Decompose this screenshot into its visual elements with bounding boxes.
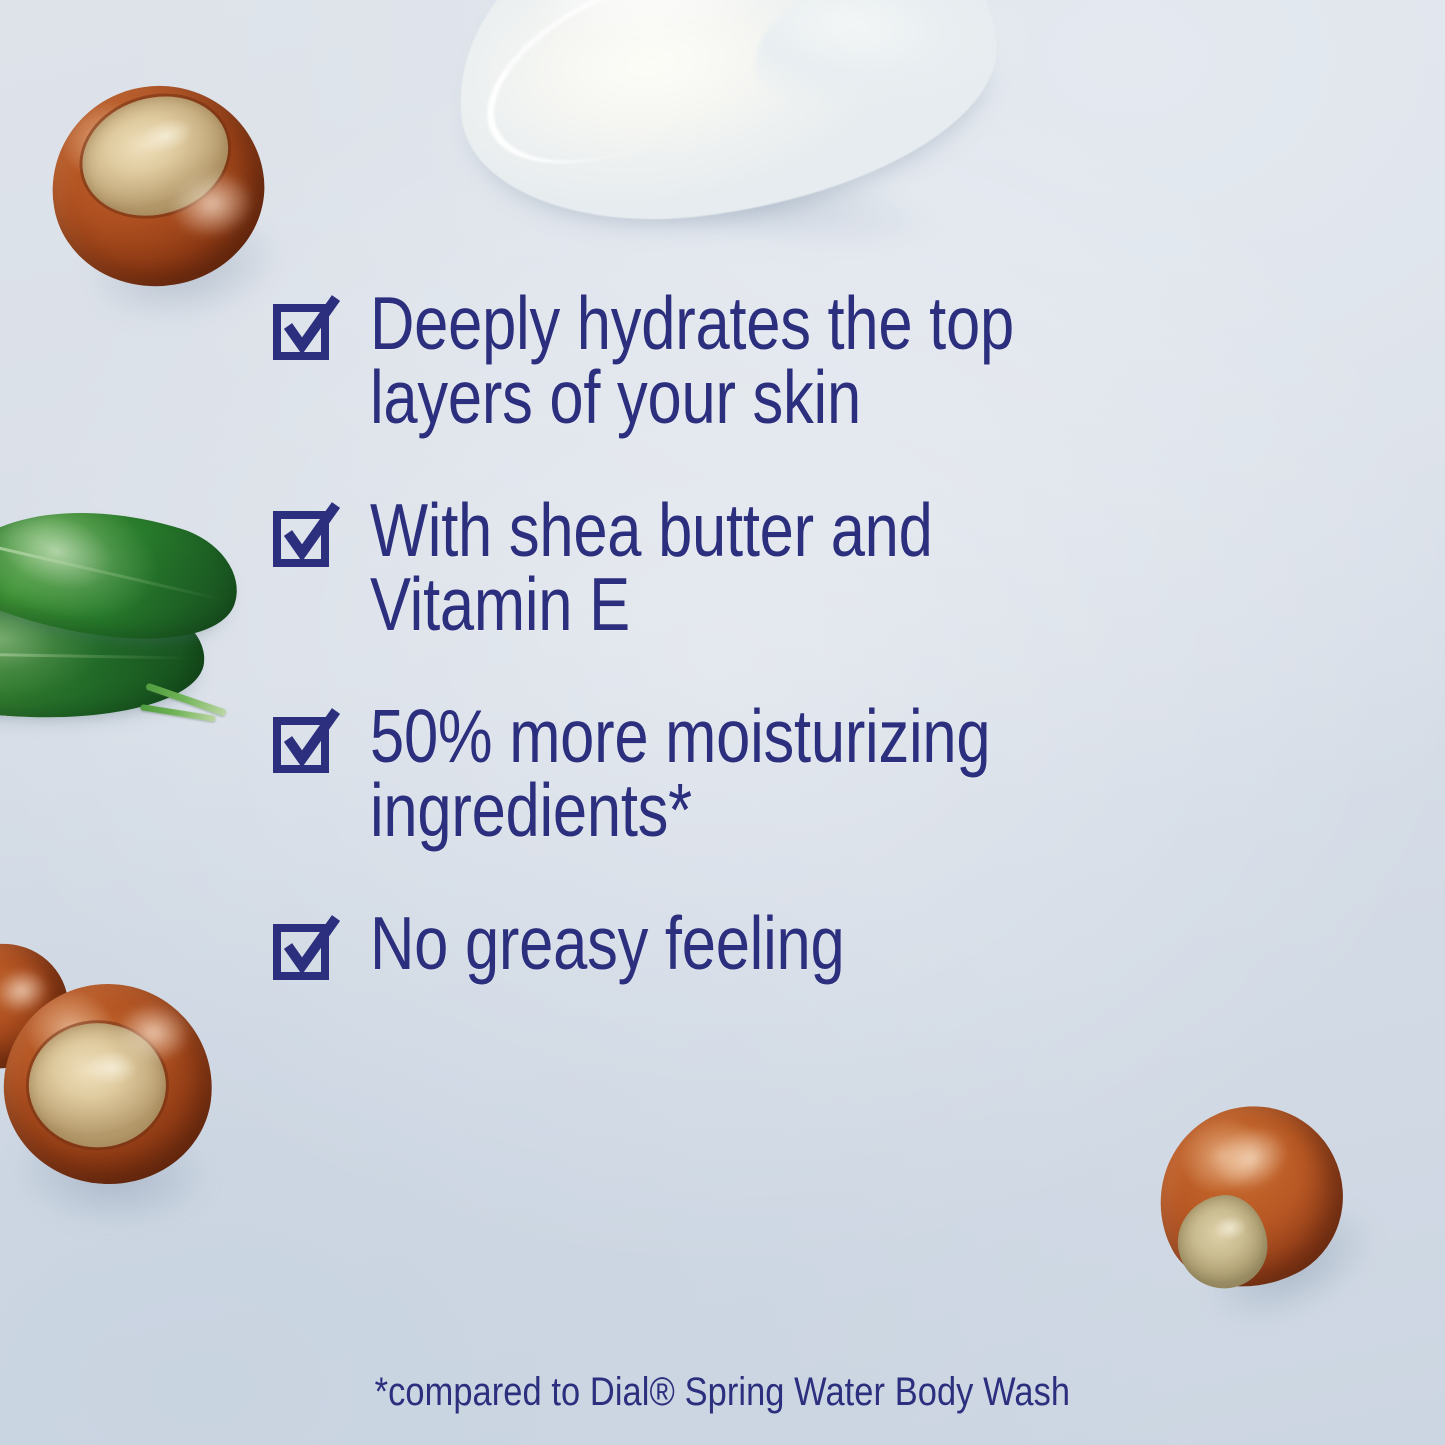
benefit-label: Deeply hydrates the top layers of your s… [370, 286, 1118, 435]
footnote: *compared to Dial® Spring Water Body Was… [0, 1372, 1445, 1412]
checkbox-checked-icon [272, 707, 344, 775]
product-benefits-image: Deeply hydrates the top layers of your s… [0, 0, 1445, 1445]
content-layer: Deeply hydrates the top layers of your s… [0, 0, 1445, 1445]
checkbox-checked-icon [272, 501, 344, 569]
footnote-text: *compared to Dial® Spring Water Body Was… [375, 1372, 1070, 1412]
benefit-item: 50% more moisturizing ingredients* [272, 699, 1282, 848]
benefits-list: Deeply hydrates the top layers of your s… [272, 286, 1282, 982]
benefit-item: No greasy feeling [272, 906, 1282, 982]
benefit-item: Deeply hydrates the top layers of your s… [272, 286, 1282, 435]
checkbox-checked-icon [272, 914, 344, 982]
checkbox-checked-icon [272, 294, 344, 362]
benefit-label: No greasy feeling [370, 906, 1118, 980]
benefit-label: With shea butter and Vitamin E [370, 493, 1118, 642]
benefit-label: 50% more moisturizing ingredients* [370, 699, 1118, 848]
benefit-item: With shea butter and Vitamin E [272, 493, 1282, 642]
